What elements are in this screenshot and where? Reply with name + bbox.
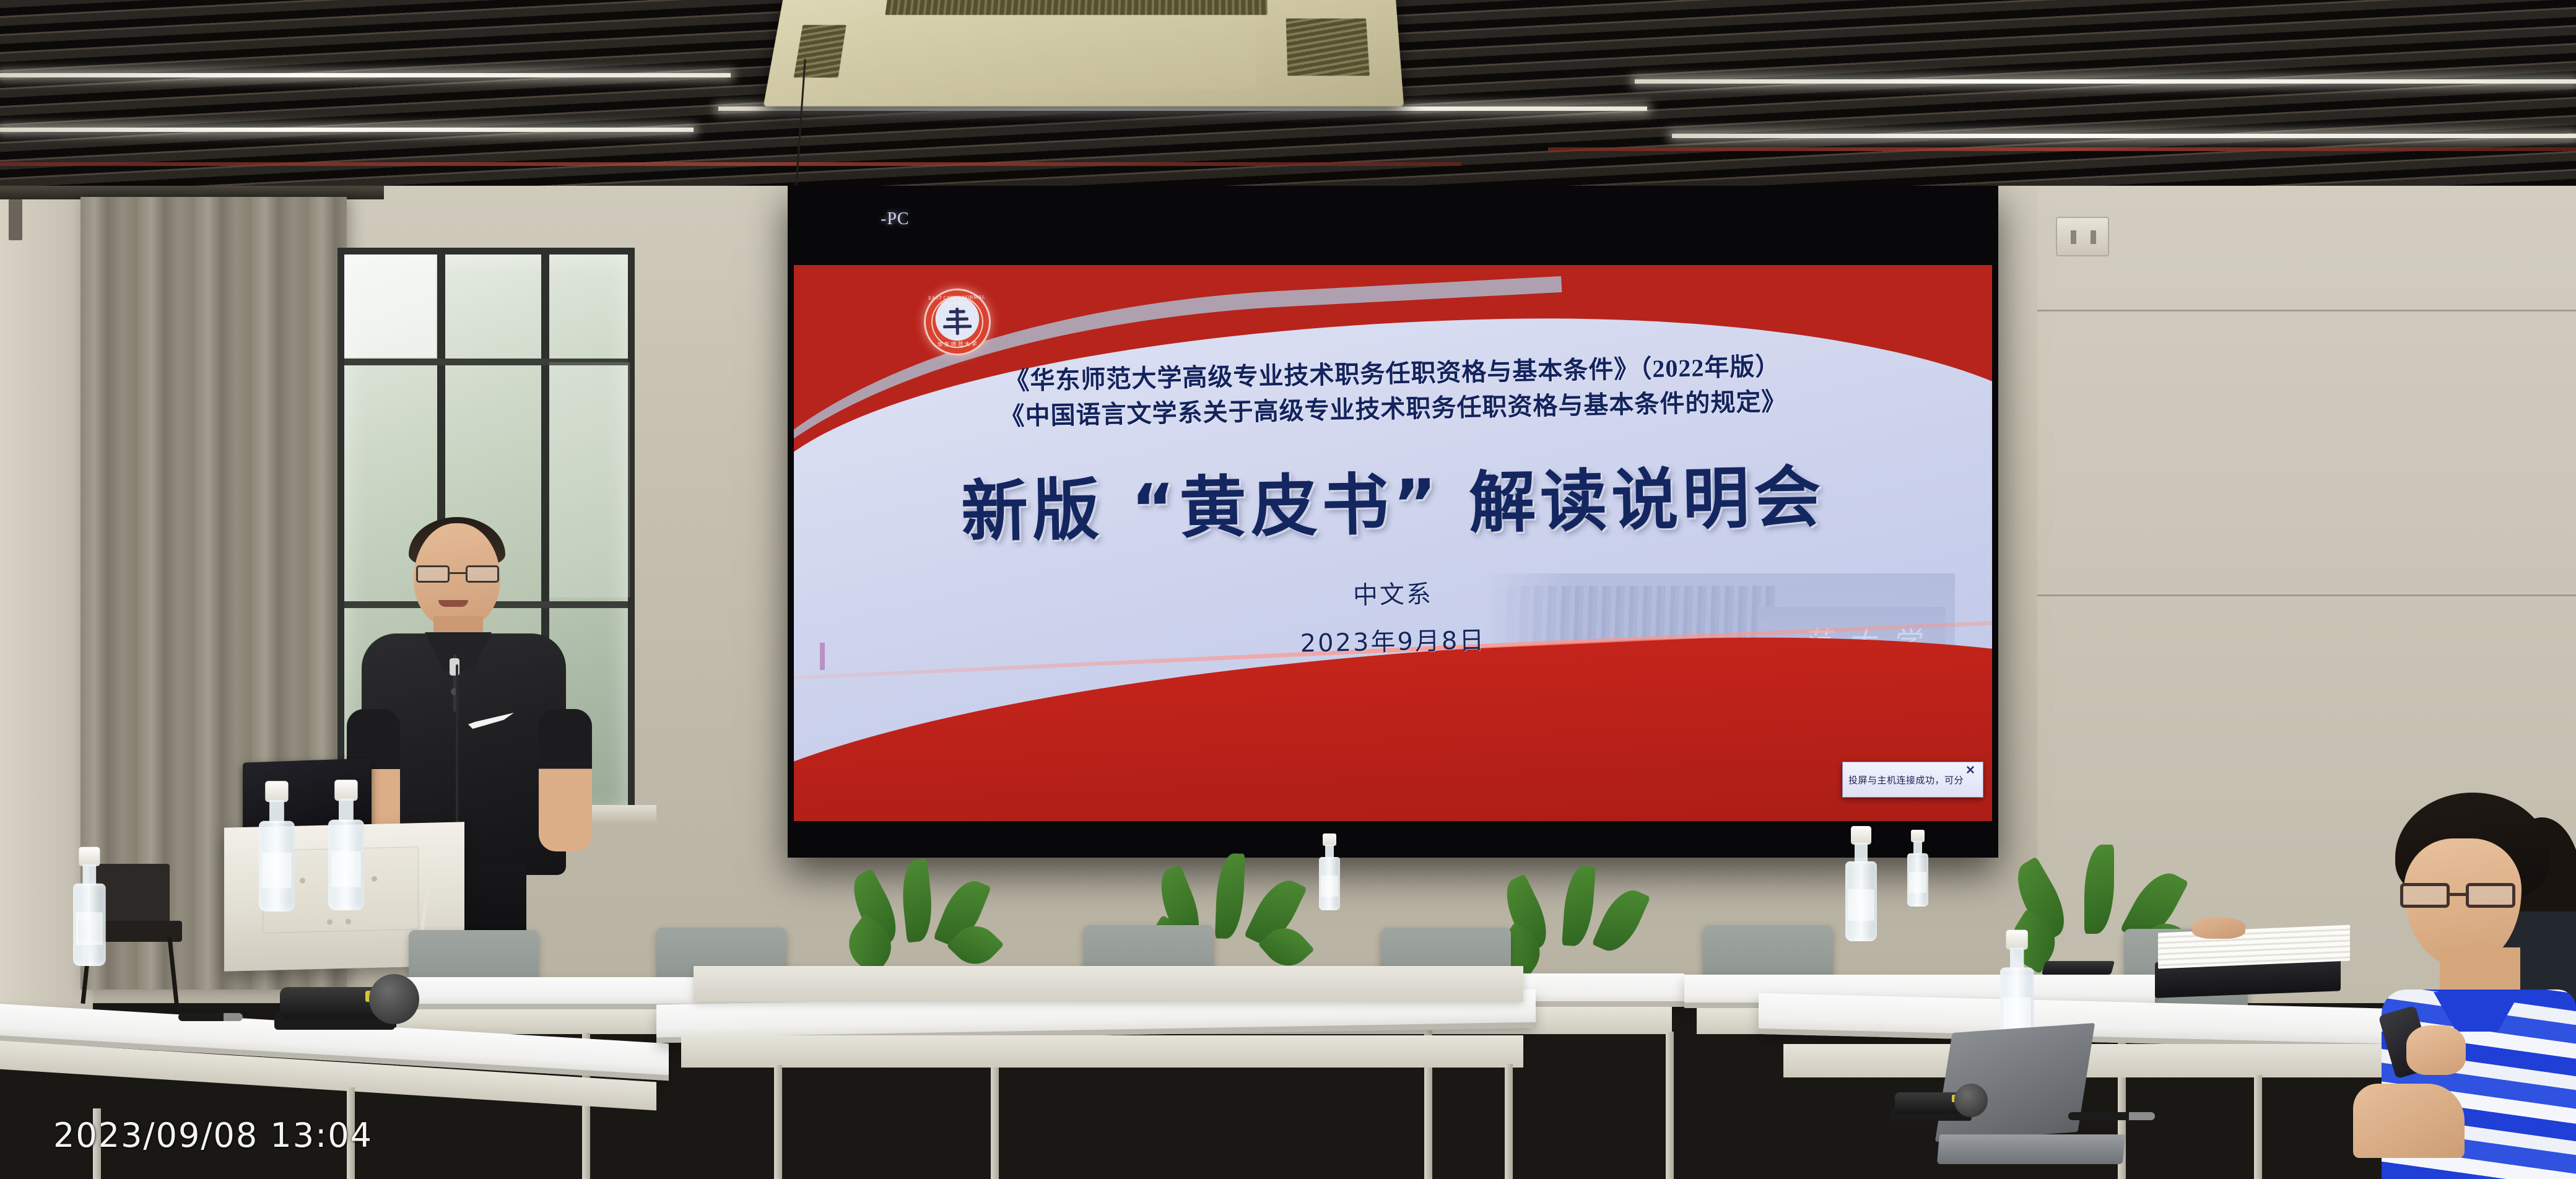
close-icon[interactable]: ✕	[1964, 764, 1977, 777]
presenter-right-arm	[539, 709, 592, 851]
smartphone[interactable]	[2042, 961, 2115, 975]
curtain-hook	[9, 199, 22, 240]
toast-message: 投屏与主机连接成功，可分享！	[1848, 773, 1964, 786]
wall-socket	[2056, 217, 2109, 256]
ceiling-air-conditioner	[764, 0, 1404, 107]
pen[interactable]	[178, 1013, 243, 1021]
ecnu-emblem-icon: EAST CHINA NORMAL UNIVERSITY 华东师范大学	[923, 288, 991, 356]
ceiling	[0, 0, 2576, 204]
seated-attendee	[2347, 793, 2576, 1179]
hand	[2192, 918, 2245, 939]
projection-screen: -PC 范大学 EAST CHINA NORMAL UNIVERSITY	[788, 186, 1998, 858]
projector-source-label: -PC	[881, 209, 910, 229]
screen-share-toast[interactable]: 投屏与主机连接成功，可分享！ ✕	[1842, 762, 1983, 798]
attendee-hand	[2406, 1025, 2466, 1075]
handheld-microphone[interactable]	[1895, 1090, 1988, 1117]
attendee-arm	[2353, 1084, 2465, 1158]
presenter-glasses	[415, 565, 500, 583]
presentation-slide: 范大学 EAST CHINA NORMAL UNIVERSITY 华东师范大学 …	[794, 265, 1992, 821]
handheld-microphone[interactable]	[280, 983, 419, 1024]
attendee-glasses	[2400, 883, 2515, 908]
presenter-mouth	[438, 600, 468, 607]
classroom-photo: -PC 范大学 EAST CHINA NORMAL UNIVERSITY	[0, 0, 2576, 1179]
camera-timestamp: 2023/09/08 13:04	[53, 1116, 373, 1155]
table-divider-panel	[694, 966, 1523, 1002]
pen[interactable]	[2068, 1112, 2155, 1120]
pine-tree-icon	[941, 303, 973, 337]
emblem-chinese-text: 华东师范大学	[926, 339, 990, 349]
